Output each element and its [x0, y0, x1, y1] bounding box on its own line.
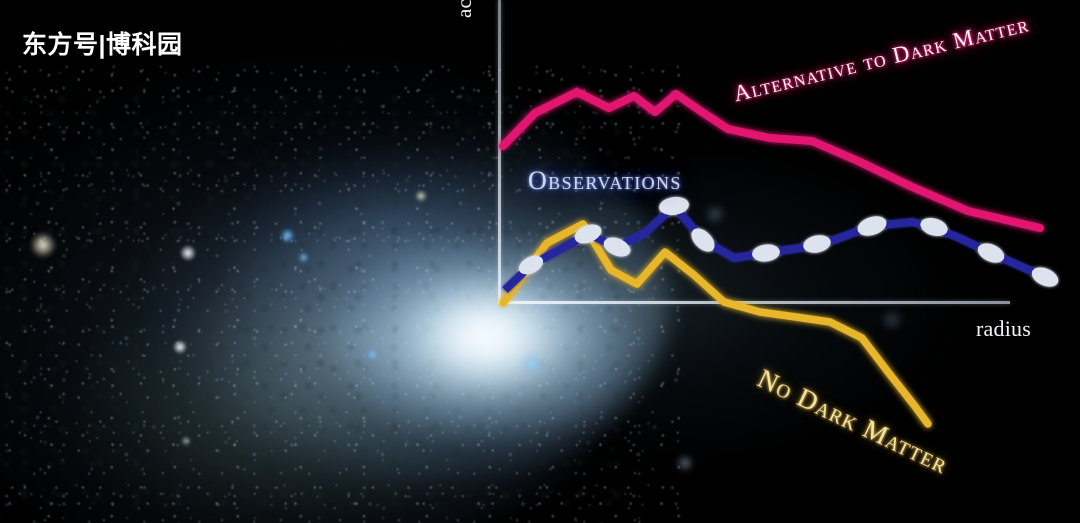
- observation-marker: [1029, 264, 1061, 291]
- curve-no-dark-matter: [503, 224, 928, 424]
- curve-alternative-to-dark-matter: [503, 92, 1040, 228]
- observation-marker: [855, 213, 889, 239]
- curve-label-observations: Observations: [528, 166, 682, 196]
- x-axis-label: radius: [976, 316, 1031, 342]
- observation-marker: [751, 243, 781, 263]
- y-axis-label: acceleration: [452, 0, 477, 18]
- observation-marker: [802, 233, 833, 255]
- figure-canvas: acceleration radius Alternative to Dark …: [0, 0, 1080, 523]
- watermark: 东方号|博科园: [22, 25, 183, 61]
